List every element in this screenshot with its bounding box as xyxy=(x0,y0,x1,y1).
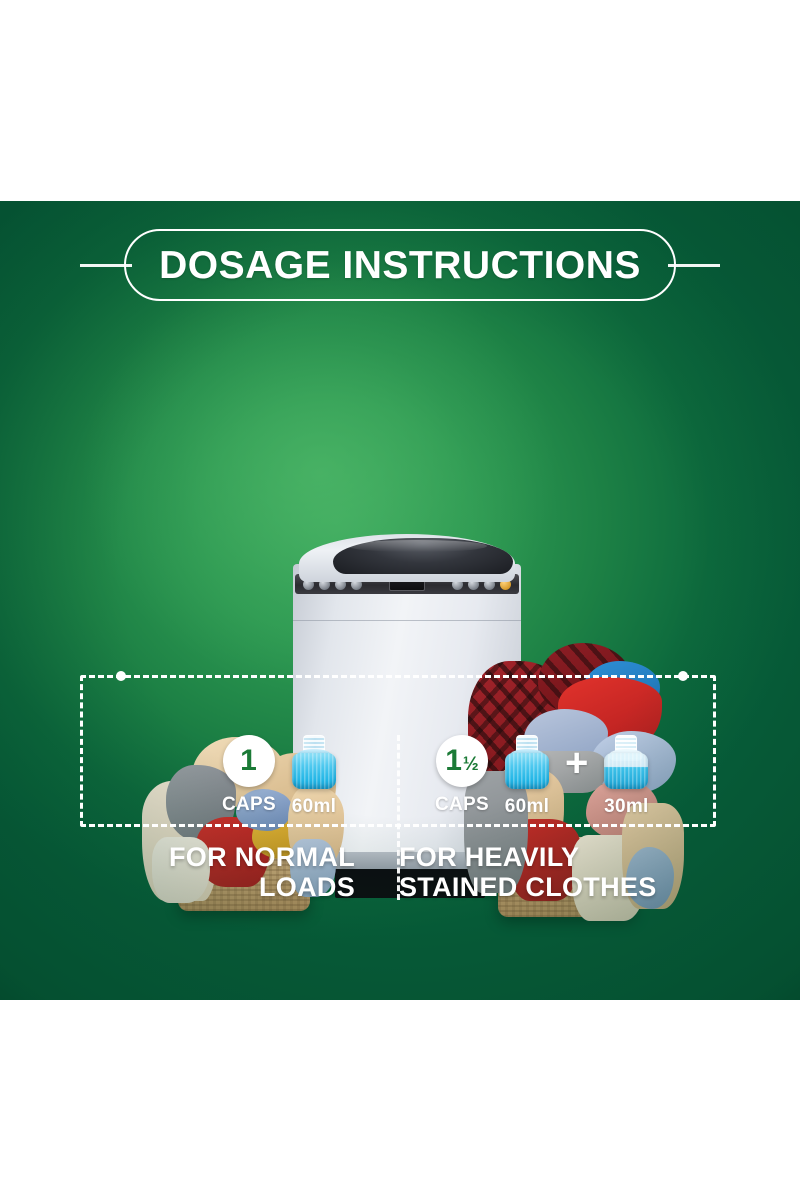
plus-icon: + xyxy=(565,743,588,783)
caption-normal-loads: FOR NORMAL LOADS xyxy=(80,843,377,913)
caption-line: FOR HEAVILY xyxy=(399,843,720,873)
cap-body xyxy=(292,753,336,789)
caps-label: CAPS xyxy=(222,794,276,816)
page-title: DOSAGE INSTRUCTIONS xyxy=(159,246,641,285)
frame-top-gap xyxy=(126,669,676,681)
cap-body xyxy=(604,753,648,789)
machine-lid-gloss xyxy=(347,540,487,552)
caps-whole-number: 1 xyxy=(445,746,462,776)
caps-count-badge: 1 xyxy=(223,735,275,787)
caption-line: STAINED CLOTHES xyxy=(399,873,720,903)
dosage-row: 1 CAPS 60ml 1½ CAPS 60ml xyxy=(80,735,720,835)
frame-corner-dot-right xyxy=(678,671,688,681)
cap-body xyxy=(505,753,549,789)
cap-volume-label: 60ml xyxy=(292,796,337,818)
caps-label: CAPS xyxy=(435,794,489,816)
caps-whole-number: 1 xyxy=(240,746,257,776)
frame-corner-dot-left xyxy=(116,671,126,681)
machine-body-seam xyxy=(293,620,521,621)
dosage-group-normal: 1 CAPS 60ml xyxy=(222,735,338,818)
detergent-cap-half-icon xyxy=(602,735,650,789)
caption-row: FOR NORMAL LOADS FOR HEAVILY STAINED CLO… xyxy=(80,843,720,913)
machine-lid xyxy=(299,534,515,582)
banner-pill: DOSAGE INSTRUCTIONS xyxy=(124,229,676,301)
caps-count-badge: 1½ xyxy=(436,735,488,787)
dosage-caps-heavy: 1½ CAPS xyxy=(435,735,489,816)
caption-heavily-stained: FOR HEAVILY STAINED CLOTHES xyxy=(377,843,720,913)
dosage-caps-normal: 1 CAPS xyxy=(222,735,276,816)
dosage-cap-60ml-heavy: 60ml xyxy=(503,735,551,818)
cap-volume-label: 60ml xyxy=(505,796,550,818)
cap-volume-label: 30ml xyxy=(604,796,649,818)
dosage-cap-30ml-heavy: 30ml xyxy=(602,735,650,818)
dosage-group-heavy: 1½ CAPS 60ml + 30ml xyxy=(435,735,650,818)
dosage-instructions-banner: DOSAGE INSTRUCTIONS xyxy=(0,225,800,305)
caption-line: LOADS xyxy=(80,873,355,903)
dosage-plus: + xyxy=(565,735,588,783)
caps-count-value: 1½ xyxy=(445,746,479,776)
detergent-cap-icon xyxy=(290,735,338,789)
detergent-cap-icon xyxy=(503,735,551,789)
caps-fraction: ½ xyxy=(463,755,479,774)
caption-line: FOR NORMAL xyxy=(80,843,355,873)
caps-count-value: 1 xyxy=(240,746,258,776)
dosage-cap-60ml-normal: 60ml xyxy=(290,735,338,818)
